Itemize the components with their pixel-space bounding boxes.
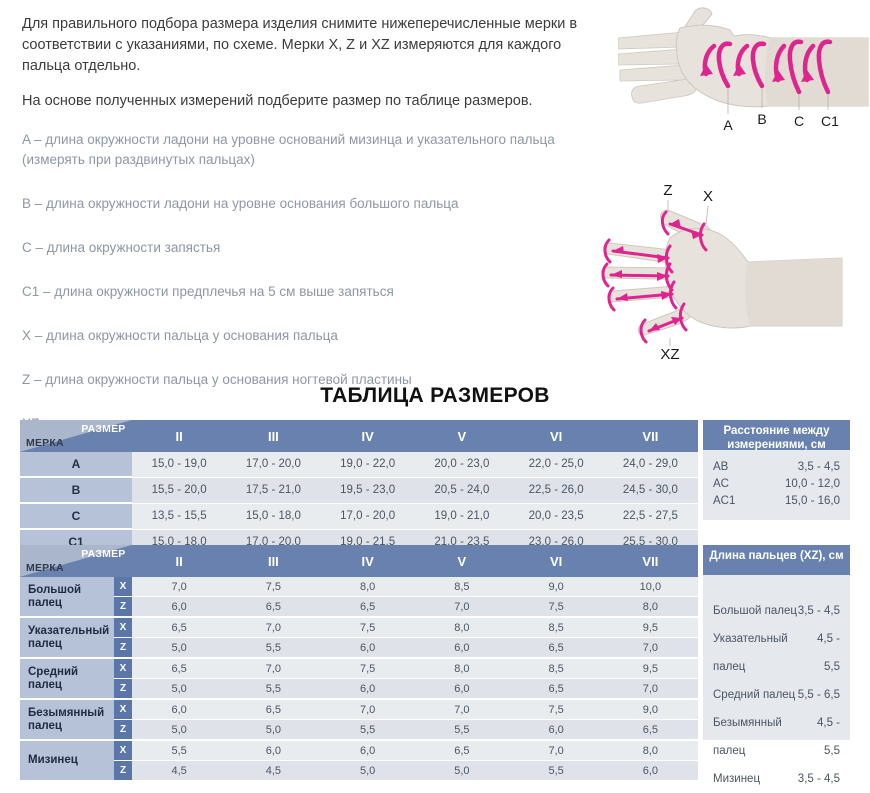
table-cell: 5,5: [321, 720, 415, 741]
table-cell: 17,5 - 21,0: [226, 477, 320, 503]
table-cell: 17,0 - 20,0: [226, 452, 320, 477]
table-cell: 7,0: [415, 597, 509, 618]
table-cell: 8,0: [415, 617, 509, 638]
table-cell: 5,5: [132, 740, 226, 761]
definition-item-b: B – длина окружности ладони на уровне ос…: [22, 194, 607, 214]
distance-between-measurements-panel: Расстояние между измерениями, см AB 3,5 …: [703, 420, 850, 522]
table-cell: 17,0 - 20,0: [321, 503, 415, 529]
table-cell: 8,5: [509, 617, 603, 638]
row-label: B: [20, 477, 132, 503]
table-cell: 6,0: [603, 761, 697, 782]
table-cell: 22,5 - 27,5: [603, 503, 697, 529]
table-cell: 8,0: [603, 740, 697, 761]
corner-label-measure: МЕРКА: [26, 437, 64, 449]
table-cell: 22,0 - 25,0: [509, 452, 603, 477]
sub-row-label-x: X: [114, 699, 132, 720]
table-cell: 5,0: [226, 720, 320, 741]
table-corner-cell: РАЗМЕР МЕРКА: [20, 545, 132, 577]
panel-key: Средний палец: [713, 681, 795, 709]
column-header-v: V: [415, 420, 509, 452]
diagram-label-z: Z: [663, 182, 672, 199]
panel-key: AB: [713, 459, 728, 476]
list-item: Большой палец 3,5 - 4,5: [713, 597, 840, 625]
table-cell: 6,0: [132, 699, 226, 720]
list-item: Безымянный палец 4,5 - 5,5: [713, 709, 840, 765]
panel-key: Безымянный палец: [713, 709, 803, 765]
table-cell: 19,0 - 21,0: [415, 503, 509, 529]
table-cell: 6,0: [321, 638, 415, 659]
hand-measurements-abc-diagram: A B C C1: [618, 2, 870, 150]
table-cell: 8,0: [415, 658, 509, 679]
definition-item-x: X – длина окружности пальца у основания …: [22, 326, 607, 346]
definition-item-c: C – длина окружности запястья: [22, 238, 607, 258]
table-cell: 9,0: [509, 577, 603, 597]
table-cell: 8,5: [415, 577, 509, 597]
list-item: Указательный палец 4,5 - 5,5: [713, 625, 840, 681]
table-cell: 20,0 - 23,0: [415, 452, 509, 477]
finger-size-table: РАЗМЕР МЕРКА II III IV V VI VII Большой …: [20, 545, 698, 782]
panel-value: 3,5 - 4,5: [798, 597, 840, 625]
definition-item-c1: C1 – длина окружности предплечья на 5 см…: [22, 282, 607, 302]
panel-value: 3,5 - 4,5: [798, 459, 840, 476]
table-cell: 6,0: [226, 740, 320, 761]
column-header-vi: VI: [509, 420, 603, 452]
sub-row-label-x: X: [114, 740, 132, 761]
column-header-ii: II: [132, 420, 226, 452]
column-header-vi: VI: [509, 545, 603, 577]
panel-key: Мизинец: [713, 765, 760, 793]
table-row: Указательный палец X 6,5 7,0 7,5 8,0 8,5…: [20, 617, 698, 638]
row-label: C: [20, 503, 132, 529]
table-cell: 6,5: [603, 720, 697, 741]
table-cell: 8,0: [603, 597, 697, 618]
panel-value: 3,5 - 4,5: [798, 765, 840, 793]
table-cell: 6,5: [321, 597, 415, 618]
measurement-definitions-list: A – длина окружности ладони на уровне ос…: [22, 130, 607, 458]
intro-paragraph-2: На основе полученных измерений подберите…: [22, 91, 602, 112]
column-header-iii: III: [226, 420, 320, 452]
column-header-vii: VII: [603, 420, 697, 452]
table-cell: 5,0: [132, 679, 226, 700]
sub-row-label-x: X: [114, 577, 132, 597]
table-cell: 5,0: [321, 761, 415, 782]
table-row: Большой палец X 7,0 7,5 8,0 8,5 9,0 10,0: [20, 577, 698, 597]
hand-silhouette-top: [618, 8, 868, 107]
table-cell: 19,0 - 22,0: [321, 452, 415, 477]
panel-key: AC1: [713, 493, 735, 510]
sub-row-label-z: Z: [114, 761, 132, 782]
row-label-finger: Средний палец: [20, 658, 114, 699]
table-cell: 6,5: [415, 740, 509, 761]
panel-key: Большой палец: [713, 597, 797, 625]
table-cell: 9,5: [603, 658, 697, 679]
table-cell: 6,5: [132, 658, 226, 679]
table-cell: 7,5: [321, 658, 415, 679]
hand-silhouette-bottom: [602, 210, 842, 336]
corner-label-size: РАЗМЕР: [81, 423, 125, 435]
table-row: Безымянный палец X 6,0 6,5 7,0 7,0 7,5 9…: [20, 699, 698, 720]
hand-measurements-xz-diagram: Z X XZ: [600, 178, 870, 360]
column-header-iv: IV: [321, 420, 415, 452]
panel-value: 4,5 - 5,5: [805, 625, 840, 681]
table-cell: 15,0 - 18,0: [226, 503, 320, 529]
diagram-label-x: X: [703, 188, 713, 205]
sub-row-label-x: X: [114, 658, 132, 679]
row-label-finger: Большой палец: [20, 577, 114, 617]
table-cell: 13,5 - 15,5: [132, 503, 226, 529]
column-header-iii: III: [226, 545, 320, 577]
diagram-label-xz: XZ: [660, 346, 679, 360]
table-cell: 6,0: [321, 740, 415, 761]
table-row: Z 6,0 6,5 6,5 7,0 7,5 8,0: [20, 597, 698, 618]
table-cell: 6,5: [509, 638, 603, 659]
panel-key: AC: [713, 476, 729, 493]
panel-title: Длина пальцев (XZ), см: [703, 545, 850, 575]
table-cell: 6,0: [509, 720, 603, 741]
panel-body: AB 3,5 - 4,5 AC 10,0 - 12,0 AC1 15,0 - 1…: [703, 450, 850, 522]
sub-row-label-z: Z: [114, 597, 132, 618]
table-cell: 4,5: [132, 761, 226, 782]
table-cell: 9,5: [603, 617, 697, 638]
intro-block: Для правильного подбора размера изделия …: [22, 14, 602, 126]
table-corner-cell: РАЗМЕР МЕРКА: [20, 420, 132, 452]
table-cell: 20,0 - 23,5: [509, 503, 603, 529]
diagram-label-b: B: [757, 111, 766, 127]
panel-key: Указательный палец: [713, 625, 805, 681]
table-cell: 24,5 - 30,0: [603, 477, 697, 503]
corner-label-size: РАЗМЕР: [81, 548, 125, 560]
table-cell: 7,0: [226, 617, 320, 638]
sub-row-label-z: Z: [114, 679, 132, 700]
table-cell: 5,0: [132, 720, 226, 741]
table-cell: 19,5 - 23,0: [321, 477, 415, 503]
table-cell: 5,5: [226, 638, 320, 659]
table-row: Мизинец X 5,5 6,0 6,0 6,5 7,0 8,0: [20, 740, 698, 761]
diagram-label-a: A: [723, 117, 733, 133]
sub-row-label-x: X: [114, 617, 132, 638]
panel-title: Расстояние между измерениями, см: [703, 420, 850, 450]
table-cell: 22,5 - 26,0: [509, 477, 603, 503]
table-cell: 7,0: [509, 740, 603, 761]
corner-label-measure: МЕРКА: [26, 562, 64, 574]
table-cell: 7,0: [603, 638, 697, 659]
panel-value: 10,0 - 12,0: [785, 476, 840, 493]
diagram-label-c: C: [794, 113, 804, 129]
table-cell: 15,5 - 20,0: [132, 477, 226, 503]
list-item: Средний палец 5,5 - 6,5: [713, 681, 840, 709]
column-header-ii: II: [132, 545, 226, 577]
table-cell: 7,5: [509, 699, 603, 720]
table-cell: 15,0 - 19,0: [132, 452, 226, 477]
column-header-v: V: [415, 545, 509, 577]
table-row: B 15,5 - 20,0 17,5 - 21,0 19,5 - 23,0 20…: [20, 477, 698, 503]
table-cell: 5,5: [509, 761, 603, 782]
definition-item-a: A – длина окружности ладони на уровне ос…: [22, 130, 607, 170]
table-cell: 6,0: [415, 638, 509, 659]
sub-row-label-z: Z: [114, 720, 132, 741]
table-cell: 5,5: [415, 720, 509, 741]
panel-value: 4,5 - 5,5: [803, 709, 840, 765]
table-cell: 5,0: [415, 761, 509, 782]
table-cell: 6,0: [415, 679, 509, 700]
page-title: ТАБЛИЦА РАЗМЕРОВ: [0, 384, 870, 408]
table-row: Z 5,0 5,0 5,5 5,5 6,0 6,5: [20, 720, 698, 741]
table-cell: 6,0: [321, 679, 415, 700]
table-cell: 7,0: [226, 658, 320, 679]
list-item: AB 3,5 - 4,5: [713, 459, 840, 476]
table-cell: 6,5: [509, 679, 603, 700]
table-cell: 7,0: [415, 699, 509, 720]
list-item: AC1 15,0 - 16,0: [713, 493, 840, 510]
table-cell: 7,5: [226, 577, 320, 597]
panel-value: 5,5 - 6,5: [798, 681, 840, 709]
table-row: A 15,0 - 19,0 17,0 - 20,0 19,0 - 22,0 20…: [20, 452, 698, 477]
row-label-finger: Указательный палец: [20, 617, 114, 658]
table-cell: 8,5: [509, 658, 603, 679]
row-label-finger: Мизинец: [20, 740, 114, 781]
diagram-label-c1: C1: [821, 113, 839, 129]
table-cell: 20,5 - 24,0: [415, 477, 509, 503]
table-row: Z 5,0 5,5 6,0 6,0 6,5 7,0: [20, 679, 698, 700]
table-cell: 6,5: [132, 617, 226, 638]
table-cell: 8,0: [321, 577, 415, 597]
table-cell: 7,0: [603, 679, 697, 700]
table-cell: 24,0 - 29,0: [603, 452, 697, 477]
row-label-finger: Безымянный палец: [20, 699, 114, 740]
table-row: Z 4,5 4,5 5,0 5,0 5,5 6,0: [20, 761, 698, 782]
table-header-row: РАЗМЕР МЕРКА II III IV V VI VII: [20, 420, 698, 452]
column-header-vii: VII: [603, 545, 697, 577]
list-item: Мизинец 3,5 - 4,5: [713, 765, 840, 793]
table-cell: 6,0: [132, 597, 226, 618]
circumference-size-table: РАЗМЕР МЕРКА II III IV V VI VII A 15,0 -…: [20, 420, 698, 556]
sub-row-label-z: Z: [114, 638, 132, 659]
table-cell: 7,5: [321, 617, 415, 638]
panel-value: 15,0 - 16,0: [785, 493, 840, 510]
table-cell: 9,0: [603, 699, 697, 720]
table-cell: 5,5: [226, 679, 320, 700]
table-cell: 4,5: [226, 761, 320, 782]
row-label: A: [20, 452, 132, 477]
table-row: C 13,5 - 15,5 15,0 - 18,0 17,0 - 20,0 19…: [20, 503, 698, 529]
table-cell: 6,5: [226, 699, 320, 720]
table-cell: 7,5: [509, 597, 603, 618]
table-cell: 5,0: [132, 638, 226, 659]
table-row: Z 5,0 5,5 6,0 6,0 6,5 7,0: [20, 638, 698, 659]
finger-length-panel: Длина пальцев (XZ), см Большой палец 3,5…: [703, 545, 850, 742]
table-row: Средний палец X 6,5 7,0 7,5 8,0 8,5 9,5: [20, 658, 698, 679]
table-cell: 7,0: [321, 699, 415, 720]
intro-paragraph-1: Для правильного подбора размера изделия …: [22, 14, 602, 77]
diagram-labels-abc: A B C C1: [723, 111, 839, 133]
table-cell: 7,0: [132, 577, 226, 597]
table-cell: 6,5: [226, 597, 320, 618]
table-header-row: РАЗМЕР МЕРКА II III IV V VI VII: [20, 545, 698, 577]
list-item: AC 10,0 - 12,0: [713, 476, 840, 493]
panel-body: Большой палец 3,5 - 4,5 Указательный пал…: [703, 575, 850, 742]
column-header-iv: IV: [321, 545, 415, 577]
table-cell: 10,0: [603, 577, 697, 597]
